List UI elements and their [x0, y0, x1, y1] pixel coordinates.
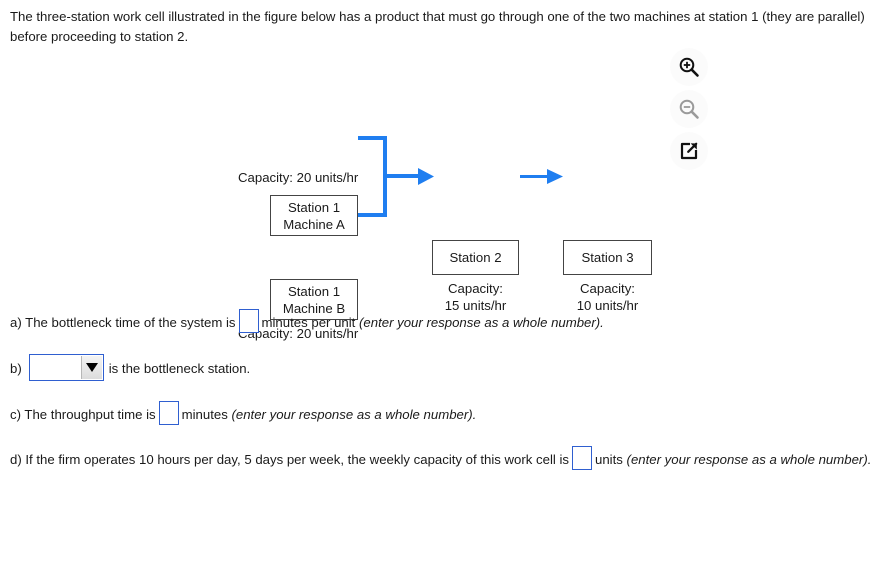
question-part-c: c) The throughput time isminutes (enter …: [10, 401, 476, 425]
part-a-hint: (enter your response as a whole number).: [359, 315, 604, 330]
chevron-down-icon[interactable]: [81, 356, 102, 379]
node-station-2: Station 2: [432, 240, 519, 275]
part-d-hint: (enter your response as a whole number).: [627, 452, 872, 467]
node-line-2: Machine A: [283, 216, 345, 233]
machine-a-capacity-label: Capacity: 20 units/hr: [238, 169, 358, 186]
part-d-suffix: units: [595, 452, 623, 467]
question-part-d: d) If the firm operates 10 hours per day…: [10, 446, 872, 470]
node-line-1: Station 2: [449, 249, 501, 266]
part-b-suffix: is the bottleneck station.: [109, 361, 250, 376]
part-d-answer-input[interactable]: [572, 446, 592, 470]
part-c-prefix: c) The throughput time is: [10, 407, 156, 422]
node-line-1: Station 1: [288, 199, 340, 216]
node-station-3: Station 3: [563, 240, 652, 275]
merge-bracket: [358, 138, 385, 215]
question-part-a: a) The bottleneck time of the system ism…: [10, 309, 604, 333]
part-b-station-select[interactable]: [29, 354, 104, 381]
chevron-down-glyph: [86, 363, 98, 372]
part-c-suffix: minutes: [182, 407, 228, 422]
part-d-prefix: d) If the firm operates 10 hours per day…: [10, 452, 569, 467]
part-c-hint: (enter your response as a whole number).: [231, 407, 476, 422]
node-station1-machine-a: Station 1 Machine A: [270, 195, 358, 236]
work-cell-diagram: Capacity: 20 units/hr Station 1 Machine …: [0, 80, 700, 275]
station2-capacity-line-1: Capacity:: [448, 281, 503, 296]
merge-to-station2-arrowhead: [418, 168, 434, 185]
question-part-b: b)is the bottleneck station.: [10, 354, 250, 381]
part-b-prefix: b): [10, 361, 22, 376]
station3-capacity-line-1: Capacity:: [580, 281, 635, 296]
question-stem: The three-station work cell illustrated …: [10, 7, 872, 47]
station2-to-station3-arrowhead: [547, 169, 563, 184]
part-a-suffix: minutes per unit: [262, 315, 356, 330]
part-a-answer-input[interactable]: [239, 309, 259, 333]
node-line-1: Station 1: [288, 283, 340, 300]
zoom-in-glyph: [677, 55, 701, 79]
part-a-prefix: a) The bottleneck time of the system is: [10, 315, 236, 330]
part-c-answer-input[interactable]: [159, 401, 179, 425]
node-line-1: Station 3: [581, 249, 633, 266]
